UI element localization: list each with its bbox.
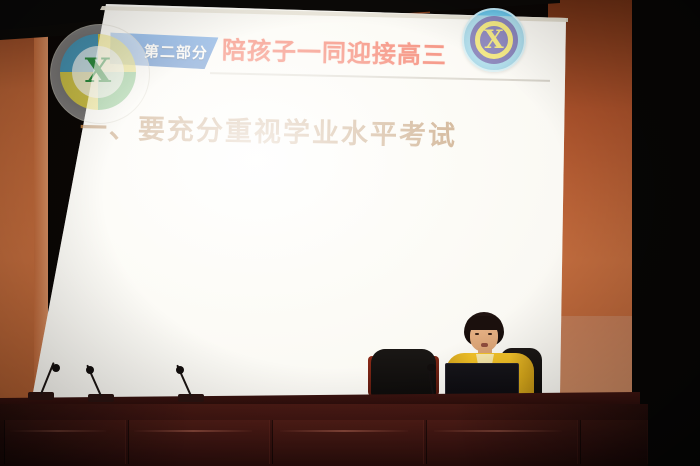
microphone-head-speaker [427,364,436,371]
microphone-head [52,364,60,372]
microphone-head [86,366,94,374]
microphone [88,382,118,402]
desk-shading [0,404,648,466]
school-crest-icon: X [462,8,526,72]
photo-scene: 第二部分 陪孩子一同迎接高三 一、要充分重视学业水平考试 X X [0,0,700,466]
crest-letter: X [75,51,121,91]
slide-section-badge-label: 第二部分 [144,40,209,63]
school-crest-watermark-icon: X [50,24,150,124]
presenter-eye-right [488,333,492,335]
slide-body-line: 一、要充分重视学业水平考试 [80,106,458,153]
presenter-mouth [481,343,488,347]
crest-letter-right: X [478,25,510,55]
office-chair [371,349,436,397]
presenter-eye-left [475,333,479,335]
slide-title: 陪孩子一同迎接高三 [222,30,448,70]
microphone-head [176,366,184,374]
dark-backdrop-right [630,0,700,466]
microphone [28,380,58,400]
microphone [178,382,208,402]
presenter-fringe [466,316,502,330]
slide-title-divider [210,72,550,82]
